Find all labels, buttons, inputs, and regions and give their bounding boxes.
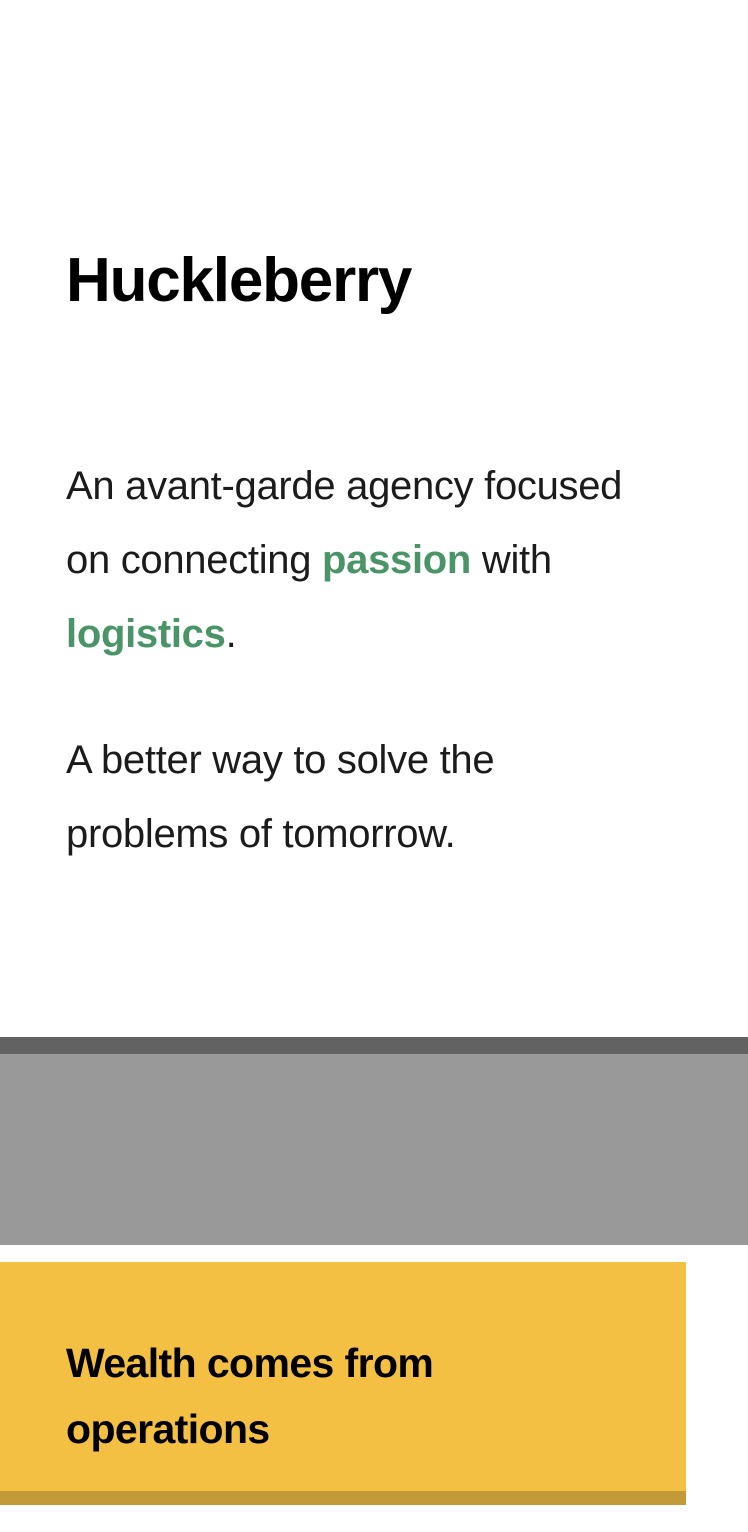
- page-root: Huckleberry An avant-garde agency focuse…: [0, 0, 748, 1532]
- intro-text-middle: with: [471, 538, 552, 582]
- intro-text-after: .: [226, 612, 237, 656]
- highlight-logistics: logistics: [66, 612, 226, 656]
- callout-card: Wealth comes from operations: [0, 1262, 686, 1505]
- intro-paragraph-follow: A better way to solve the problems of to…: [66, 723, 666, 871]
- media-placeholder: [0, 1037, 748, 1245]
- hero-section: Huckleberry An avant-garde agency focuse…: [0, 0, 748, 871]
- intro-paragraph-lead: An avant-garde agency focused on connect…: [66, 449, 666, 671]
- highlight-passion: passion: [322, 538, 471, 582]
- page-title: Huckleberry: [66, 248, 748, 315]
- callout-title: Wealth comes from operations: [0, 1262, 686, 1462]
- media-placeholder-topbar: [0, 1037, 748, 1054]
- intro-copy: An avant-garde agency focused on connect…: [66, 449, 666, 871]
